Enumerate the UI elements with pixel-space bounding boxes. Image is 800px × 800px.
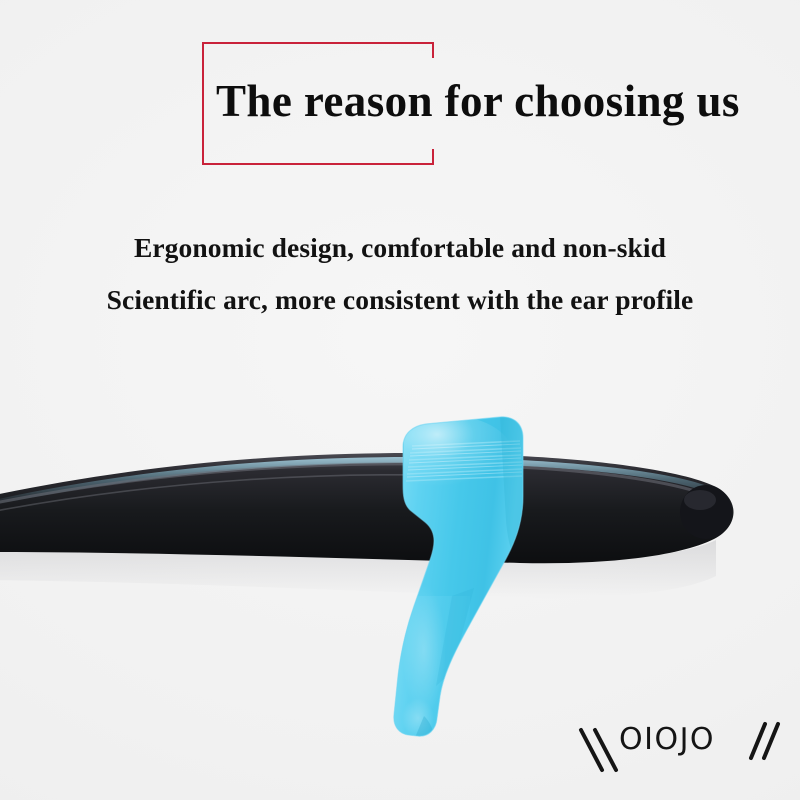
frame-left-edge [202, 42, 204, 165]
subtitle-line-2: Scientific arc, more consistent with the… [0, 274, 800, 326]
subtitle-block: Ergonomic design, comfortable and non-sk… [0, 222, 800, 326]
frame-top-edge [202, 42, 434, 44]
eyeglass-temple-arm [0, 449, 734, 563]
right-slashes-icon [751, 724, 778, 758]
frame-bottom-right-stub [432, 149, 434, 165]
frame-bottom-edge [202, 163, 434, 165]
brand-wordmark: OIOJO [619, 722, 715, 757]
left-slashes-icon [581, 730, 616, 770]
promo-banner: The reason for choosing us Ergonomic des… [0, 0, 800, 800]
frame-top-right-stub [432, 42, 434, 58]
headline-block: The reason for choosing us [0, 0, 800, 200]
subtitle-line-1: Ergonomic design, comfortable and non-sk… [0, 222, 800, 274]
brand-watermark: OIOJO [575, 712, 790, 782]
page-title: The reason for choosing us [216, 77, 740, 126]
